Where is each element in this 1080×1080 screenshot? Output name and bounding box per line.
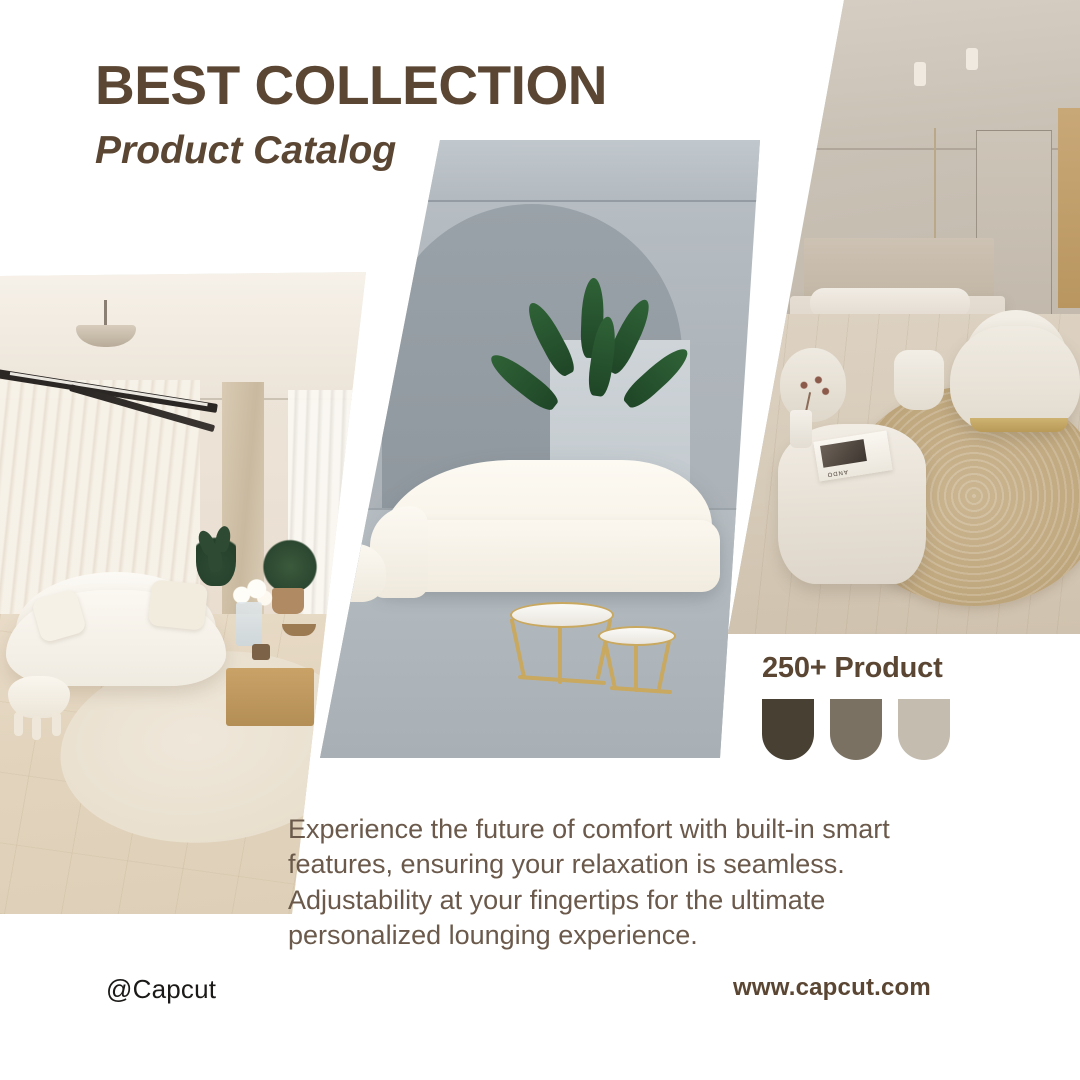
stool-leg-2 bbox=[32, 716, 41, 740]
swatch-dark-olive[interactable] bbox=[762, 699, 814, 760]
pendant-rod bbox=[104, 300, 107, 328]
small-table-leg-1 bbox=[634, 640, 638, 692]
wooden-bench bbox=[226, 668, 314, 726]
boucle-lounge-chair bbox=[950, 326, 1080, 432]
book-title-text: ANDO bbox=[826, 468, 848, 477]
palm-plant bbox=[536, 270, 646, 440]
wood-wardrobe bbox=[1058, 108, 1080, 308]
ceiling-spotlight-1 bbox=[914, 62, 926, 86]
ceramic-vase bbox=[790, 410, 812, 448]
grey-studio-scene bbox=[320, 140, 760, 758]
social-handle: @Capcut bbox=[106, 974, 216, 1005]
product-stat-block: 250+ Product bbox=[762, 652, 950, 760]
small-pouf bbox=[894, 350, 944, 410]
page-subtitle: Product Catalog bbox=[95, 131, 607, 170]
swatch-warm-taupe[interactable] bbox=[830, 699, 882, 760]
cushion-right bbox=[148, 579, 209, 631]
page-title: BEST COLLECTION bbox=[95, 58, 607, 113]
stool-leg-3 bbox=[52, 712, 61, 736]
marble-nesting-table-small bbox=[598, 626, 676, 646]
small-jar bbox=[252, 644, 270, 660]
ceiling-spotlight-2 bbox=[966, 48, 978, 70]
lounge-chair-brass-base bbox=[970, 418, 1068, 432]
heading-block: BEST COLLECTION Product Catalog bbox=[95, 58, 607, 170]
website-url[interactable]: www.capcut.com bbox=[733, 974, 931, 1002]
swatch-light-greige[interactable] bbox=[898, 699, 950, 760]
poster-canvas: BEST COLLECTION Product Catalog bbox=[0, 0, 1080, 1080]
product-count-label: 250+ Product bbox=[762, 652, 950, 685]
description-text: Experience the future of comfort with bu… bbox=[288, 812, 960, 953]
bedroom-scene: ANDO bbox=[728, 0, 1080, 634]
gallery-image-bedroom-lounge: ANDO bbox=[728, 0, 1080, 634]
color-swatch-row bbox=[762, 699, 950, 760]
marble-nesting-table-large bbox=[510, 602, 614, 628]
gallery-image-grey-studio-sofa bbox=[320, 140, 760, 758]
glass-vase bbox=[236, 602, 262, 646]
ceiling bbox=[728, 0, 1080, 150]
book-cover-image bbox=[820, 439, 867, 468]
table-leg-1 bbox=[558, 620, 562, 684]
round-ottoman bbox=[326, 544, 386, 602]
stool-leg-1 bbox=[14, 712, 23, 736]
